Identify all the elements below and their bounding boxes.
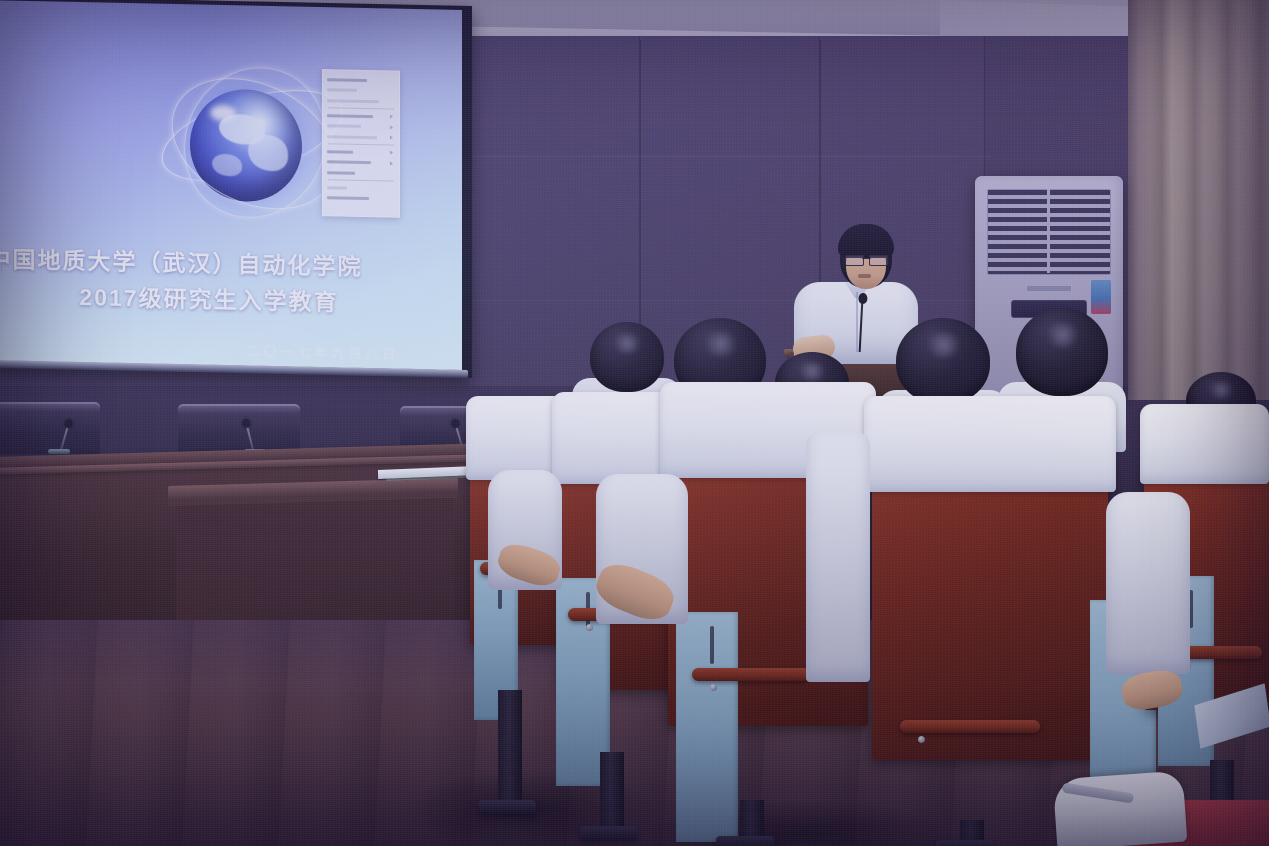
- slide-date: 二〇一七年九月八日: [88, 337, 462, 366]
- projection-screen: 中国地质大学（武汉）自动化学院 2017级研究生入学教育 二〇一七年九月八日: [0, 0, 462, 370]
- seat-floor-plate: [478, 800, 536, 814]
- seat-hinge-bolt: [918, 736, 925, 743]
- seat-headrest-cover: [1140, 404, 1269, 484]
- menu-item[interactable]: [327, 122, 395, 131]
- slide-subtitle: 2017级研究生入学教育: [0, 276, 444, 320]
- slide-overlay-menu[interactable]: [322, 69, 400, 218]
- wall-rail-upper: [470, 156, 990, 157]
- slide-title: 中国地质大学（武汉）自动化学院: [0, 239, 410, 283]
- seat-armrest: [900, 720, 1040, 733]
- menu-separator: [328, 179, 394, 181]
- lecture-hall-photo: 中国地质大学（武汉）自动化学院 2017级研究生入学教育 二〇一七年九月八日: [0, 0, 1269, 846]
- menu-item[interactable]: [327, 111, 395, 120]
- student-shirt-right: [1106, 492, 1190, 674]
- chevron-right-icon: [390, 150, 393, 154]
- hair-highlight: [924, 332, 963, 358]
- seat-hinge-bolt: [710, 684, 717, 691]
- seat-floor-plate: [936, 840, 994, 846]
- hair-highlight: [702, 331, 741, 356]
- seat-floor-plate: [716, 836, 774, 846]
- menu-item[interactable]: [327, 75, 395, 84]
- menu-item[interactable]: [327, 158, 395, 167]
- seat-hinge-bolt: [586, 624, 593, 631]
- seat-pedestal-leg: [498, 690, 522, 808]
- speaker-shirt-placket: [856, 292, 858, 352]
- chevron-right-icon: [390, 125, 393, 129]
- hair-highlight: [1207, 381, 1236, 398]
- desk-microphone-base-1: [48, 449, 70, 454]
- menu-item[interactable]: [327, 86, 395, 95]
- seat-headrest-cover: [864, 396, 1116, 492]
- chevron-right-icon: [390, 161, 393, 165]
- seat-armrest: [692, 668, 810, 681]
- speaker-mouth: [858, 274, 871, 278]
- menu-separator: [328, 107, 394, 109]
- curtain-shading: [1128, 0, 1269, 400]
- white-bag: [1053, 771, 1188, 846]
- seat-side-panel: [676, 612, 738, 842]
- audience-head: [896, 318, 990, 404]
- panel-chair-1: [0, 402, 100, 454]
- menu-item[interactable]: [327, 147, 395, 156]
- seat-pedestal-leg: [600, 752, 624, 832]
- menu-item[interactable]: [327, 132, 395, 141]
- glasses-lens-left: [845, 255, 864, 266]
- seat-backrest: [872, 460, 1108, 760]
- seat-floor-plate: [580, 826, 638, 840]
- student-shirt-far: [806, 432, 870, 682]
- menu-item[interactable]: [327, 96, 395, 105]
- menu-item[interactable]: [327, 194, 395, 203]
- menu-item[interactable]: [327, 168, 395, 177]
- chevron-right-icon: [390, 135, 393, 139]
- menu-item[interactable]: [327, 183, 395, 192]
- chevron-right-icon: [390, 114, 393, 118]
- menu-separator: [328, 143, 394, 145]
- seat-side-slot: [710, 626, 714, 664]
- glasses-lens-right: [869, 255, 888, 266]
- hair-highlight: [797, 362, 828, 381]
- speaker-glasses: [845, 255, 888, 264]
